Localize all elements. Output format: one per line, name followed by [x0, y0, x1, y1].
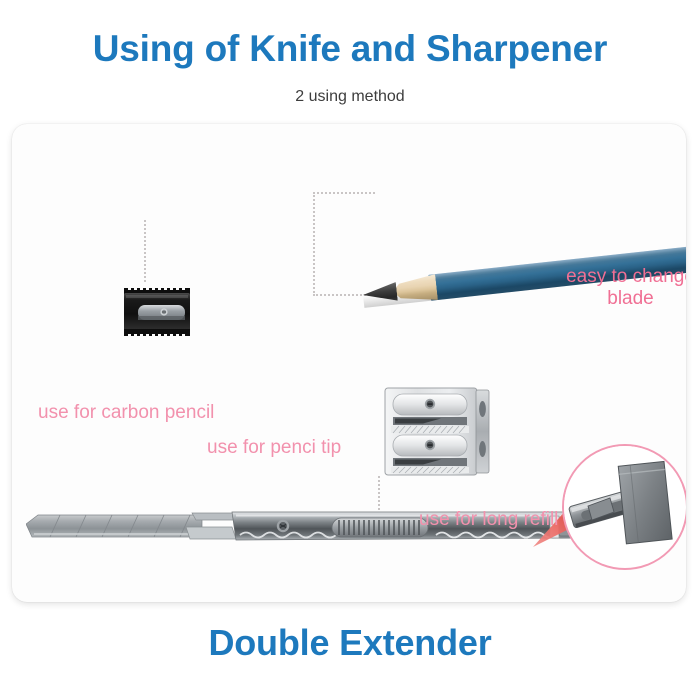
silver-sharpener-icon [381, 383, 493, 480]
infographic-stage: Using of Knife and Sharpener 2 using met… [0, 0, 700, 700]
black-sharpener-icon [121, 285, 193, 341]
callout-pencil-tip: use for penci tip [207, 437, 341, 459]
callout-change-blade: easy to change blade [548, 266, 686, 311]
card-inner: use for carbon pencil use for penci tip … [12, 124, 686, 602]
page-title: Using of Knife and Sharpener [0, 28, 700, 70]
connector-carbon-pencil-vertical [144, 220, 146, 282]
page-subtitle: 2 using method [0, 88, 700, 106]
callout-carbon-pencil: use for carbon pencil [38, 402, 214, 424]
connector-pencil-tip-vertical [313, 192, 315, 296]
product-illustration-card: use for carbon pencil use for penci tip … [12, 124, 686, 602]
callout-long-refill: use for long refill [419, 509, 558, 531]
connector-pencil-tip-top [313, 192, 375, 194]
footer-title: Double Extender [0, 622, 700, 664]
blade-change-magnifier [562, 444, 686, 570]
